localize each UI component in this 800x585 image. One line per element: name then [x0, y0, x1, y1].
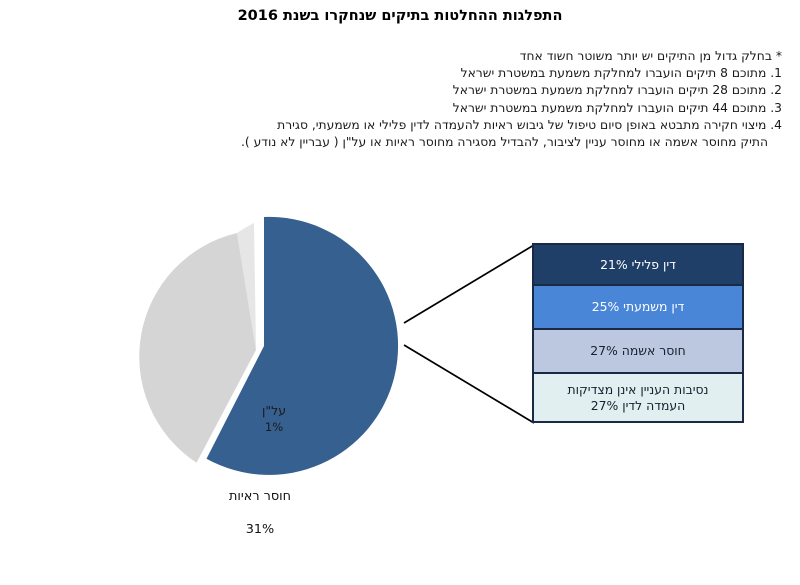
pie-label-main-text: תיקים שהניב ממצאים [363, 502, 460, 543]
leader-lines [395, 295, 545, 425]
leader-line-bottom [404, 345, 534, 423]
legend-row-criminal-text: דין פלילי 21% [600, 257, 676, 273]
page-title: התפלגות ההחלטות בתיקים שנחקרו בשנת 2016 [0, 8, 800, 24]
note-item-3: 3. מתוכם 44 תיקים הועברו למחלקת משמעת במ… [12, 100, 782, 117]
pie-chart: על"ן 1% חוסר ראיות 31% תיקים שהניב ממצאי… [96, 196, 426, 496]
note-footnote: * בחלק גדול מן התיקים יש יותר משוטר חשוד… [12, 48, 782, 65]
legend-row-circumstances[interactable]: נסיבות העניין אינן מצדיקות העמדה לדין 27… [534, 374, 742, 421]
note-item-4: 4. מיצוי חקירה מתבטא באופן סיום טיפול של… [12, 117, 782, 134]
note-item-2: 2. מתוכם 28 תיקים הועברו למחלקת משמעת במ… [12, 82, 782, 99]
legend-row-circumstances-line2: העמדה לדין 27% [591, 398, 686, 414]
pie-label-main: תיקים שהניב ממצאים 67.54% [332, 501, 490, 585]
legend-row-no-guilt-text: חוסר אשמה 27% [590, 343, 686, 359]
pie-label-evidence-percent: 31% [200, 521, 320, 538]
legend-row-disciplinary-text: דין משמעתי 25% [592, 299, 685, 315]
pie-chart-svg [96, 196, 426, 496]
legend-row-no-guilt[interactable]: חוסר אשמה 27% [534, 330, 742, 374]
legend-row-criminal[interactable]: דין פלילי 21% [534, 245, 742, 286]
note-item-1: 1. מתוכם 8 תיקים הועברו למחלקת משמעת במש… [12, 65, 782, 82]
breakdown-legend: דין פלילי 21% דין משמעתי 25% חוסר אשמה 2… [532, 243, 744, 423]
note-item-4-cont: התיק מחוסר אשמה או מחוסר עניין לציבור, ל… [12, 134, 782, 151]
notes-block: * בחלק גדול מן התיקים יש יותר משוטר חשוד… [12, 48, 782, 151]
legend-row-disciplinary[interactable]: דין משמעתי 25% [534, 286, 742, 330]
legend-row-circumstances-line1: נסיבות העניין אינן מצדיקות [568, 382, 709, 398]
pie-label-main-percent: 67.54% [332, 563, 490, 585]
chart-page: { "title": "התפלגות ההחלטות בתיקים שנחקר… [0, 0, 800, 498]
